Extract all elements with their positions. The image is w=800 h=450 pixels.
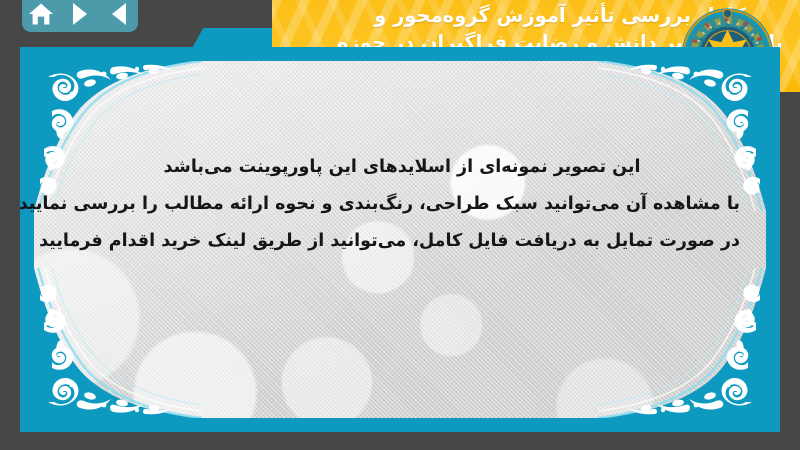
back-button[interactable] xyxy=(104,1,134,27)
slide-body-text: این تصویر نمونه‌ای از اسلایدهای این پاور… xyxy=(64,149,740,260)
triangle-left-icon xyxy=(112,3,126,25)
navigation-bar xyxy=(22,0,138,32)
body-line-2: با مشاهده آن می‌توانید سبک طراحی، رنگ‌بن… xyxy=(64,186,740,223)
triangle-right-icon xyxy=(73,3,87,25)
slide-content-area: این تصویر نمونه‌ای از اسلایدهای این پاور… xyxy=(34,61,766,418)
arabesque-corner-ornament-bottom-right xyxy=(598,268,766,418)
forward-button[interactable] xyxy=(65,1,95,27)
slide-viewer: کامل بررسی تأثیر آموزش گروه‌محور و بازی‌… xyxy=(0,0,800,450)
slide-frame: این تصویر نمونه‌ای از اسلایدهای این پاور… xyxy=(20,47,780,432)
arabesque-corner-ornament-bottom-left xyxy=(34,268,202,418)
home-button[interactable] xyxy=(26,1,56,27)
home-icon xyxy=(28,2,54,26)
body-line-1: این تصویر نمونه‌ای از اسلایدهای این پاور… xyxy=(64,149,740,186)
body-line-3: در صورت تمایل به دریافت فایل کامل، می‌تو… xyxy=(64,223,740,260)
